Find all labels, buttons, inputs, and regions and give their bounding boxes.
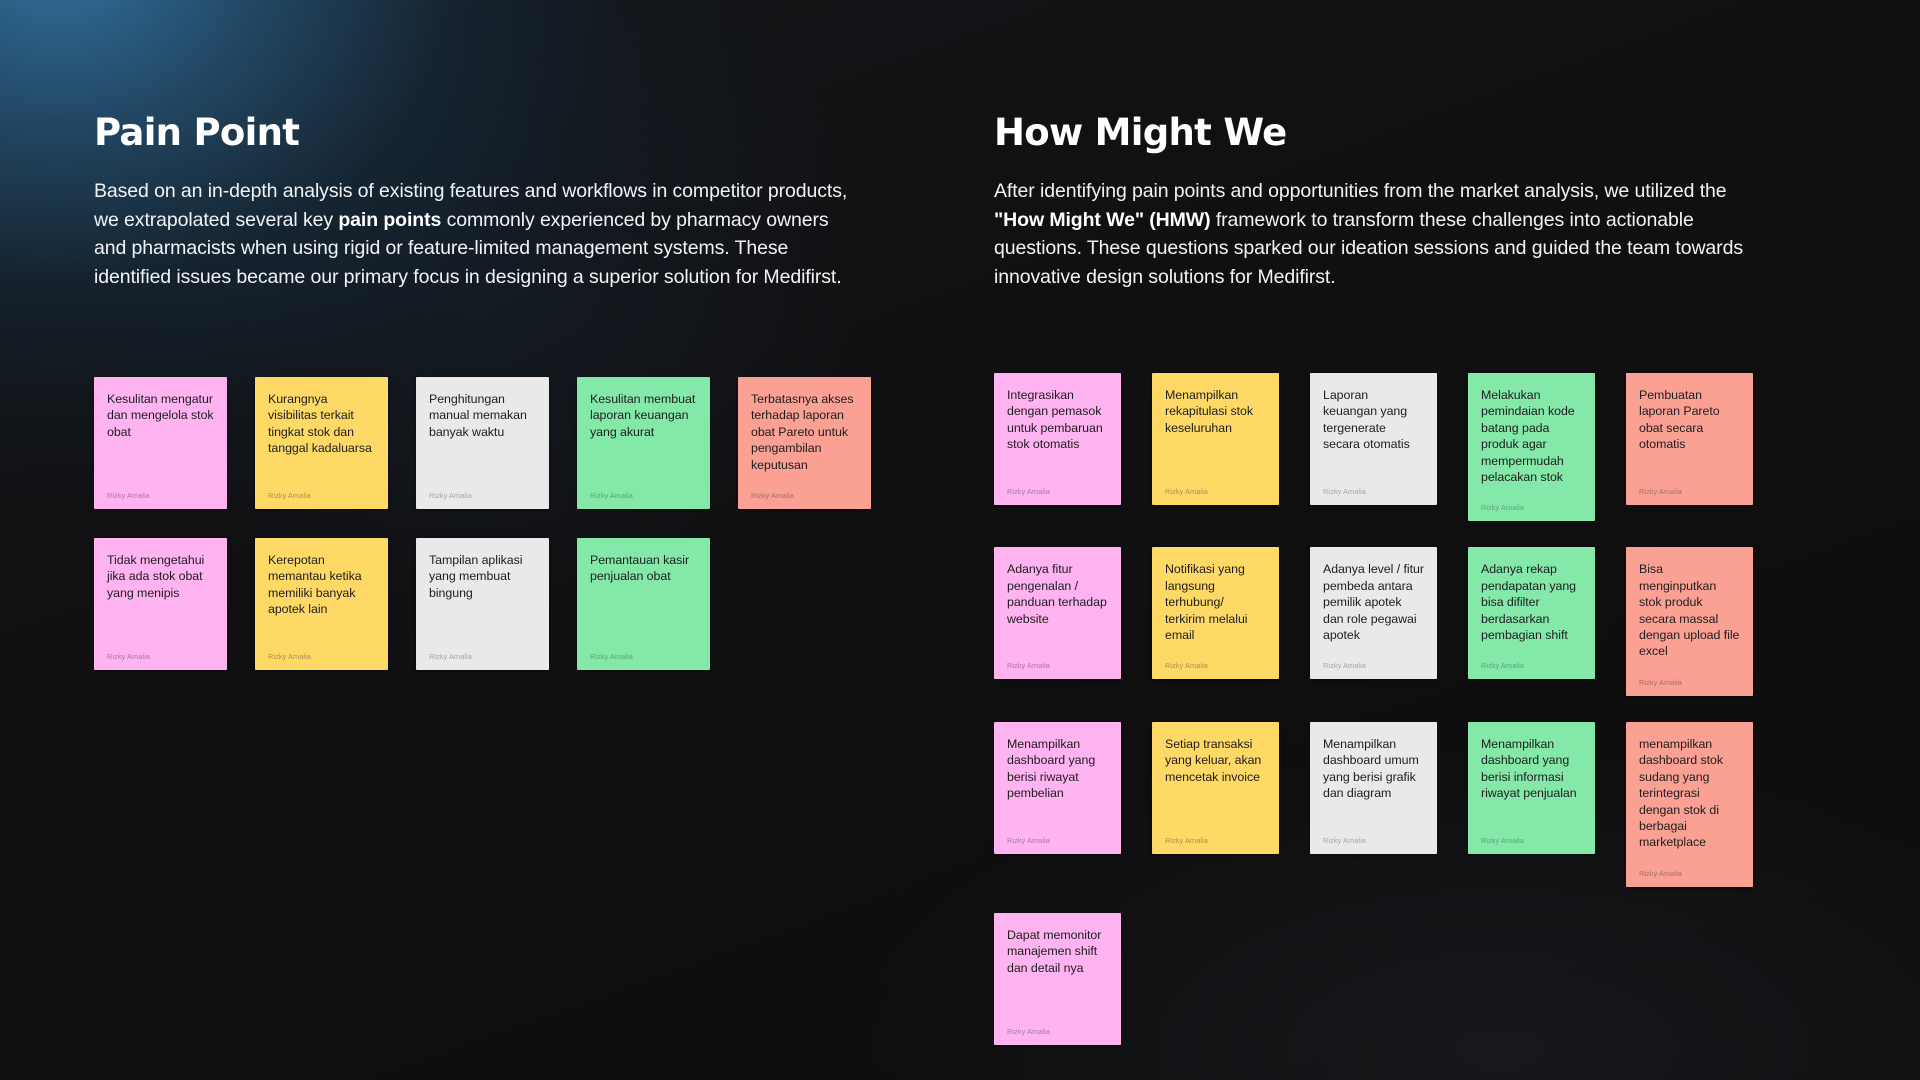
sticky-note-author: Rizky Amalia bbox=[1639, 487, 1740, 496]
sticky-note-text: Penghitungan manual memakan banyak waktu bbox=[429, 391, 536, 440]
note-row: Dapat memonitor manajemen shift dan deta… bbox=[994, 913, 1753, 1045]
sticky-note[interactable]: Pembuatan laporan Pareto obat secara oto… bbox=[1626, 373, 1753, 505]
sticky-note[interactable]: Pemantauan kasir penjualan obatRizky Ama… bbox=[577, 538, 710, 670]
sticky-note-author: Rizky Amalia bbox=[1007, 836, 1108, 845]
sticky-note-author: Rizky Amalia bbox=[1481, 503, 1582, 512]
sticky-note-author: Rizky Amalia bbox=[268, 652, 375, 661]
how-might-we-description: After identifying pain points and opport… bbox=[994, 177, 1769, 291]
sticky-note[interactable]: Adanya level / fitur pembeda antara pemi… bbox=[1310, 547, 1437, 679]
sticky-note[interactable]: Kerepotan memantau ketika memiliki banya… bbox=[255, 538, 388, 670]
sticky-note[interactable]: Menampilkan dashboard yang berisi inform… bbox=[1468, 722, 1595, 854]
note-row: Tidak mengetahui jika ada stok obat yang… bbox=[94, 538, 871, 670]
sticky-note[interactable]: menampilkan dashboard stok sudang yang t… bbox=[1626, 722, 1753, 887]
sticky-note-author: Rizky Amalia bbox=[1165, 661, 1266, 670]
sticky-note-text: Adanya level / fitur pembeda antara pemi… bbox=[1323, 561, 1424, 643]
sticky-note[interactable]: Bisa menginputkan stok produk secara mas… bbox=[1626, 547, 1753, 695]
sticky-note-author: Rizky Amalia bbox=[1639, 869, 1740, 878]
sticky-note-author: Rizky Amalia bbox=[1007, 487, 1108, 496]
sticky-note-text: Menampilkan dashboard yang berisi inform… bbox=[1481, 736, 1582, 802]
sticky-note-text: menampilkan dashboard stok sudang yang t… bbox=[1639, 736, 1740, 851]
sticky-note[interactable]: Laporan keuangan yang tergenerate secara… bbox=[1310, 373, 1437, 505]
sticky-note-author: Rizky Amalia bbox=[107, 491, 214, 500]
how-might-we-description-emphasis: "How Might We" (HMW) bbox=[994, 209, 1211, 231]
sticky-note-text: Menampilkan dashboard umum yang berisi g… bbox=[1323, 736, 1424, 802]
sticky-note-author: Rizky Amalia bbox=[1323, 661, 1424, 670]
sticky-note-text: Kerepotan memantau ketika memiliki banya… bbox=[268, 552, 375, 618]
sticky-note[interactable]: Menampilkan dashboard yang berisi riwaya… bbox=[994, 722, 1121, 854]
note-row: Integrasikan dengan pemasok untuk pembar… bbox=[994, 373, 1753, 521]
sticky-note-text: Pemantauan kasir penjualan obat bbox=[590, 552, 697, 585]
sticky-note-author: Rizky Amalia bbox=[1639, 678, 1740, 687]
sticky-note-author: Rizky Amalia bbox=[1007, 661, 1108, 670]
sticky-note-author: Rizky Amalia bbox=[107, 652, 214, 661]
sticky-note-author: Rizky Amalia bbox=[1165, 487, 1266, 496]
sticky-note[interactable]: Adanya rekap pendapatan yang bisa difilt… bbox=[1468, 547, 1595, 679]
sticky-note-author: Rizky Amalia bbox=[1165, 836, 1266, 845]
sticky-note[interactable]: Tidak mengetahui jika ada stok obat yang… bbox=[94, 538, 227, 670]
note-row: Kesulitan mengatur dan mengelola stok ob… bbox=[94, 377, 871, 509]
sticky-note-text: Adanya rekap pendapatan yang bisa difilt… bbox=[1481, 561, 1582, 643]
sticky-note-text: Tampilan aplikasi yang membuat bingung bbox=[429, 552, 536, 601]
sticky-note[interactable]: Menampilkan dashboard umum yang berisi g… bbox=[1310, 722, 1437, 854]
sticky-note-author: Rizky Amalia bbox=[1323, 487, 1424, 496]
sticky-note[interactable]: Kurangnya visibilitas terkait tingkat st… bbox=[255, 377, 388, 509]
sticky-note-author: Rizky Amalia bbox=[429, 652, 536, 661]
sticky-note-author: Rizky Amalia bbox=[1481, 836, 1582, 845]
sticky-note-author: Rizky Amalia bbox=[590, 652, 697, 661]
how-might-we-title: How Might We bbox=[994, 114, 1287, 151]
sticky-note-author: Rizky Amalia bbox=[268, 491, 375, 500]
sticky-note-text: Tidak mengetahui jika ada stok obat yang… bbox=[107, 552, 214, 601]
sticky-note[interactable]: Adanya fitur pengenalan / panduan terhad… bbox=[994, 547, 1121, 679]
sticky-note[interactable]: Setiap transaksi yang keluar, akan mence… bbox=[1152, 722, 1279, 854]
sticky-note-author: Rizky Amalia bbox=[1323, 836, 1424, 845]
sticky-note-text: Bisa menginputkan stok produk secara mas… bbox=[1639, 561, 1740, 659]
sticky-note-author: Rizky Amalia bbox=[1481, 661, 1582, 670]
pain-point-title: Pain Point bbox=[94, 114, 299, 151]
sticky-note-text: Dapat memonitor manajemen shift dan deta… bbox=[1007, 927, 1108, 976]
sticky-note[interactable]: Penghitungan manual memakan banyak waktu… bbox=[416, 377, 549, 509]
sticky-note[interactable]: Melakukan pemindaian kode batang pada pr… bbox=[1468, 373, 1595, 521]
pain-point-description: Based on an in-depth analysis of existin… bbox=[94, 177, 854, 291]
sticky-note-text: Menampilkan dashboard yang berisi riwaya… bbox=[1007, 736, 1108, 802]
sticky-note-author: Rizky Amalia bbox=[1007, 1027, 1108, 1036]
sticky-note[interactable]: Tampilan aplikasi yang membuat bingungRi… bbox=[416, 538, 549, 670]
sticky-note-text: Integrasikan dengan pemasok untuk pembar… bbox=[1007, 387, 1108, 453]
how-might-we-description-prefix: After identifying pain points and opport… bbox=[994, 180, 1727, 202]
sticky-note-text: Adanya fitur pengenalan / panduan terhad… bbox=[1007, 561, 1108, 627]
note-row: Adanya fitur pengenalan / panduan terhad… bbox=[994, 547, 1753, 695]
sticky-note[interactable]: Dapat memonitor manajemen shift dan deta… bbox=[994, 913, 1121, 1045]
sticky-note-author: Rizky Amalia bbox=[751, 491, 858, 500]
pain-point-note-grid: Kesulitan mengatur dan mengelola stok ob… bbox=[94, 377, 871, 699]
sticky-note-text: Kesulitan membuat laporan keuangan yang … bbox=[590, 391, 697, 440]
sticky-note-text: Melakukan pemindaian kode batang pada pr… bbox=[1481, 387, 1582, 485]
sticky-note-text: Kesulitan mengatur dan mengelola stok ob… bbox=[107, 391, 214, 440]
sticky-note[interactable]: Integrasikan dengan pemasok untuk pembar… bbox=[994, 373, 1121, 505]
sticky-note[interactable]: Terbatasnya akses terhadap laporan obat … bbox=[738, 377, 871, 509]
note-row: Menampilkan dashboard yang berisi riwaya… bbox=[994, 722, 1753, 887]
sticky-note-text: Setiap transaksi yang keluar, akan mence… bbox=[1165, 736, 1266, 785]
pain-point-description-emphasis: pain points bbox=[338, 209, 441, 231]
sticky-note[interactable]: Notifikasi yang langsung terhubung/ terk… bbox=[1152, 547, 1279, 679]
sticky-note-text: Menampilkan rekapitulasi stok keseluruha… bbox=[1165, 387, 1266, 436]
sticky-note-text: Pembuatan laporan Pareto obat secara oto… bbox=[1639, 387, 1740, 453]
board-content: Pain Point Based on an in-depth analysis… bbox=[0, 0, 1920, 1080]
sticky-note-text: Kurangnya visibilitas terkait tingkat st… bbox=[268, 391, 375, 457]
sticky-note-author: Rizky Amalia bbox=[429, 491, 536, 500]
sticky-note[interactable]: Kesulitan membuat laporan keuangan yang … bbox=[577, 377, 710, 509]
sticky-note[interactable]: Kesulitan mengatur dan mengelola stok ob… bbox=[94, 377, 227, 509]
sticky-note-text: Notifikasi yang langsung terhubung/ terk… bbox=[1165, 561, 1266, 643]
sticky-note-text: Terbatasnya akses terhadap laporan obat … bbox=[751, 391, 858, 473]
sticky-note-text: Laporan keuangan yang tergenerate secara… bbox=[1323, 387, 1424, 453]
sticky-note-author: Rizky Amalia bbox=[590, 491, 697, 500]
how-might-we-note-grid: Integrasikan dengan pemasok untuk pembar… bbox=[994, 373, 1753, 1071]
sticky-note[interactable]: Menampilkan rekapitulasi stok keseluruha… bbox=[1152, 373, 1279, 505]
